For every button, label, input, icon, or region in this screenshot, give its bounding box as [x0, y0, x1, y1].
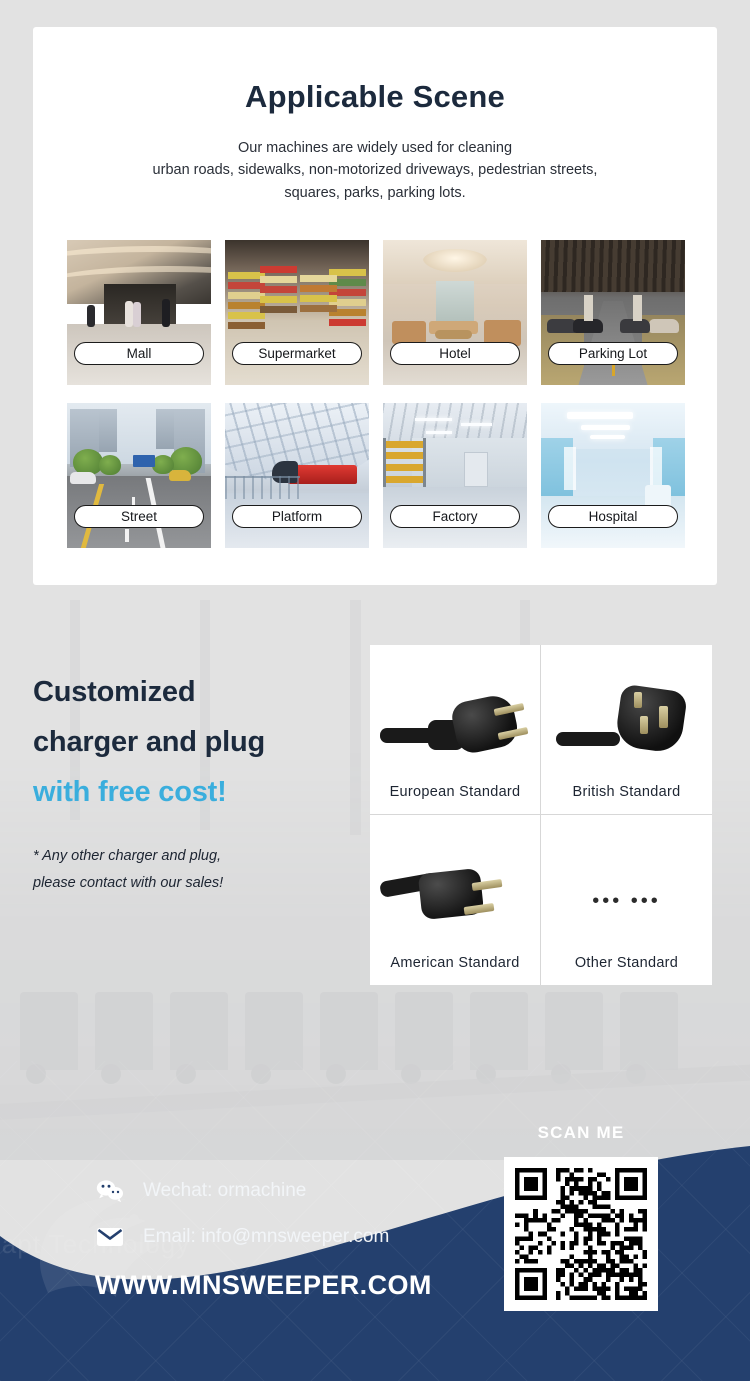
contact-block: Wechat: ormachine Email: info@mnsweeper.…: [95, 1178, 389, 1270]
us-plug-icon: [380, 847, 530, 955]
scene-card-parking-lot[interactable]: Parking Lot: [541, 240, 685, 385]
scene-label: Street: [74, 505, 204, 528]
scene-label: Mall: [74, 342, 204, 365]
ellipsis-icon: ••• •••: [552, 847, 702, 955]
charger-heading-line-1: Customized: [33, 676, 195, 708]
charger-note-line-1: * Any other charger and plug,: [33, 848, 221, 864]
plug-caption: American Standard: [390, 955, 519, 971]
scan-block: SCAN ME: [504, 1123, 658, 1311]
email-text: Email: info@mnsweeper.com: [143, 1226, 389, 1248]
scene-card-hotel[interactable]: Hotel: [383, 240, 527, 385]
scene-subtitle: Our machines are widely used for cleanin…: [33, 137, 717, 204]
plug-standards-card: European Standard British Standard Ameri…: [370, 645, 712, 985]
scene-label: Factory: [390, 505, 520, 528]
wechat-icon: [95, 1178, 125, 1204]
ellipsis-symbol: ••• •••: [592, 890, 661, 913]
scene-label: Parking Lot: [548, 342, 678, 365]
plug-caption: British Standard: [573, 784, 681, 800]
subtitle-line-3: squares, parks, parking lots.: [284, 185, 465, 201]
subtitle-line-1: Our machines are widely used for cleanin…: [238, 140, 512, 156]
charger-note: * Any other charger and plug, please con…: [33, 843, 363, 897]
plug-caption: Other Standard: [575, 955, 678, 971]
charger-note-line-2: please contact with our sales!: [33, 875, 223, 891]
plug-caption: European Standard: [390, 784, 521, 800]
uk-plug-icon: [552, 676, 702, 784]
scan-me-label: SCAN ME: [504, 1123, 658, 1143]
qr-code[interactable]: [504, 1157, 658, 1311]
website-url[interactable]: WWW.MNSWEEPER.COM: [95, 1270, 432, 1301]
contact-row-email[interactable]: Email: info@mnsweeper.com: [95, 1224, 389, 1250]
scene-card-factory[interactable]: Factory: [383, 403, 527, 548]
plug-grid: European Standard British Standard Ameri…: [370, 645, 712, 985]
scene-label: Hotel: [390, 342, 520, 365]
page-title: Applicable Scene: [33, 79, 717, 115]
wechat-text: Wechat: ormachine: [143, 1180, 306, 1202]
scene-label: Platform: [232, 505, 362, 528]
charger-heading: Customized charger and plug with free co…: [33, 668, 353, 818]
applicable-scene-card: Applicable Scene Our machines are widely…: [33, 27, 717, 585]
charger-heading-line-2: charger and plug: [33, 726, 265, 758]
plug-cell-american: American Standard: [370, 815, 541, 985]
scene-card-hospital[interactable]: Hospital: [541, 403, 685, 548]
plug-cell-european: European Standard: [370, 645, 541, 815]
scene-card-platform[interactable]: Platform: [225, 403, 369, 548]
scene-card-mall[interactable]: Mall: [67, 240, 211, 385]
scene-label: Hospital: [548, 505, 678, 528]
subtitle-line-2: urban roads, sidewalks, non-motorized dr…: [153, 162, 598, 178]
scene-grid: Mall: [67, 240, 685, 548]
contact-row-wechat[interactable]: Wechat: ormachine: [95, 1178, 389, 1204]
scene-card-street[interactable]: Street: [67, 403, 211, 548]
scene-label: Supermarket: [232, 342, 362, 365]
plug-cell-british: British Standard: [541, 645, 712, 815]
scene-card-supermarket[interactable]: Supermarket: [225, 240, 369, 385]
envelope-icon: [95, 1224, 125, 1250]
charger-heading-accent: with free cost!: [33, 776, 227, 808]
plug-cell-other: ••• ••• Other Standard: [541, 815, 712, 985]
qr-code-icon: [515, 1168, 647, 1300]
eu-plug-icon: [380, 676, 530, 784]
